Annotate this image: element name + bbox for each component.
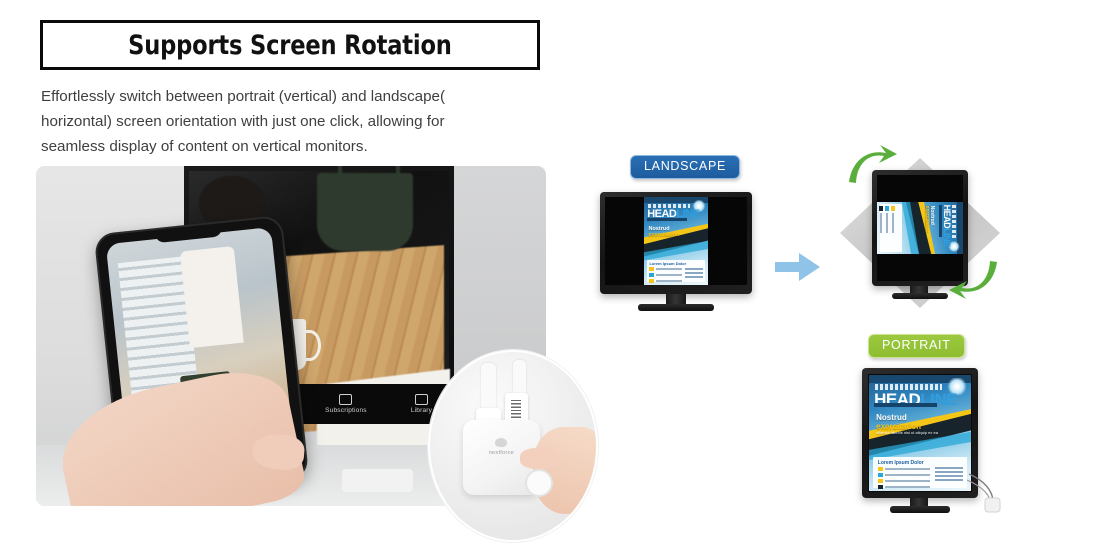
magazine-panel-title: Lorem Ipsum Dolor	[649, 261, 686, 266]
magazine-headline: HEADLINE	[942, 205, 951, 247]
library-icon	[415, 394, 428, 405]
inset-index-finger	[520, 448, 561, 469]
bullet-bar	[885, 480, 931, 483]
description-line-3: seamless display of content on vertical …	[41, 134, 541, 159]
bullet-bar	[656, 268, 682, 271]
description-line-1: Effortlessly switch between portrait (ve…	[41, 84, 541, 109]
magazine-feature-text: Nostrud exercitation ullamco laboris nis…	[876, 414, 938, 435]
photo-thumb	[250, 432, 304, 471]
photo-nav-item-library: Library	[411, 394, 432, 414]
headline-part-white: HEAD	[942, 205, 952, 229]
list-item	[878, 467, 931, 471]
bullet-swatch	[649, 279, 654, 283]
phone-screen-person	[181, 246, 244, 348]
cable-icon	[967, 472, 1003, 514]
magazine-artwork-portrait: HEADLINE Nostrud exercitation ullamco la…	[869, 375, 971, 491]
page-title-box: Supports Screen Rotation	[40, 20, 540, 70]
magazine-subbar	[939, 205, 942, 237]
rotation-arrow-bottom	[948, 258, 1000, 305]
rotated-magazine-clip: HEADLINE Nostrud exercitation	[877, 202, 963, 254]
badge-landscape: LANDSCAPE	[630, 155, 740, 179]
feature-subtext: ullamco laboris nisi ut aliquip ex ea	[876, 431, 938, 435]
list-item	[885, 206, 889, 233]
subscriptions-icon	[339, 394, 352, 405]
magazine-subbar	[647, 218, 687, 221]
list-item	[649, 273, 682, 277]
magazine-side-text-block	[935, 466, 963, 482]
list-item	[879, 206, 883, 233]
bullet-bar	[885, 486, 931, 489]
landscape-monitor: HEADLINE Nostrud exercitation Lorem Ipsu…	[600, 192, 752, 310]
magazine-artwork: HEADLINE Nostrud exercitation Lorem Ipsu…	[644, 197, 708, 285]
subscriptions-label: Subscriptions	[325, 407, 367, 414]
magazine-feature-text: Nostrud exercitation	[923, 206, 934, 234]
bullet-swatch	[878, 467, 883, 471]
portrait-magazine-cover: HEADLINE Nostrud exercitation ullamco la…	[869, 375, 971, 491]
feature-line-2: exercitation	[923, 206, 928, 234]
magazine-feature-text: Nostrud exercitation	[648, 227, 679, 239]
bullet-swatch	[878, 485, 883, 489]
bullet-swatch	[885, 206, 889, 211]
bullet-bar	[656, 280, 682, 283]
bullet-swatch	[878, 473, 883, 477]
list-item	[878, 479, 931, 483]
magazine-bottom-panel: Lorem Ipsum Dolor	[873, 457, 967, 487]
bullet-swatch	[878, 479, 883, 483]
device-closeup-inset: nextforce	[428, 350, 598, 542]
magazine-bullet-list	[877, 206, 895, 233]
landscape-monitor-bezel: HEADLINE Nostrud exercitation Lorem Ipsu…	[600, 192, 752, 294]
list-item	[878, 485, 931, 489]
flow-arrow	[775, 252, 821, 282]
portrait-monitor: HEADLINE Nostrud exercitation ullamco la…	[862, 368, 978, 514]
rotation-arrow-top	[846, 144, 898, 191]
portrait-monitor-cable	[967, 472, 1003, 519]
list-item	[649, 267, 682, 271]
landscape-monitor-base	[638, 304, 714, 311]
rotate-counterclockwise-icon	[948, 258, 1000, 300]
magazine-kicker	[952, 205, 956, 239]
magazine-subbar	[874, 403, 937, 407]
magazine-panel-title: Lorem Ipsum Dolor	[878, 460, 924, 466]
portrait-monitor-screen: HEADLINE Nostrud exercitation ullamco la…	[868, 374, 972, 492]
list-item	[649, 279, 682, 283]
magazine-side-text-block	[685, 266, 703, 278]
portrait-monitor-bezel: HEADLINE Nostrud exercitation ullamco la…	[862, 368, 978, 498]
feature-description: Effortlessly switch between portrait (ve…	[41, 84, 541, 159]
bullet-swatch	[649, 273, 654, 277]
magazine-bottom-panel: Lorem Ipsum Dolor	[647, 260, 706, 283]
landscape-monitor-screen: HEADLINE Nostrud exercitation Lorem Ipsu…	[605, 197, 747, 285]
magazine-kicker	[875, 384, 942, 390]
bullet-swatch	[879, 206, 883, 211]
photo-dock-device	[342, 469, 413, 493]
magazine-bottom-panel	[880, 204, 902, 252]
product-feature-page: Supports Screen Rotation Effortlessly sw…	[0, 0, 1110, 555]
feature-line-2: exercitation	[648, 233, 679, 239]
rotate-clockwise-icon	[846, 144, 898, 186]
library-label: Library	[411, 407, 432, 414]
bullet-bar	[892, 213, 895, 233]
rotation-button[interactable]	[525, 469, 553, 497]
description-line-2: horizontal) screen orientation with just…	[41, 109, 541, 134]
bullet-bar	[885, 474, 931, 477]
landscape-magazine-cover: HEADLINE Nostrud exercitation Lorem Ipsu…	[644, 197, 708, 285]
page-title: Supports Screen Rotation	[128, 30, 452, 61]
magazine-bullet-list	[878, 467, 931, 491]
portrait-monitor-base	[890, 506, 950, 513]
bullet-swatch	[649, 267, 654, 271]
bullet-bar	[656, 274, 682, 277]
magazine-artwork-rotated: HEADLINE Nostrud exercitation	[877, 202, 963, 254]
magazine-bullet-list	[649, 267, 682, 285]
connector-pins	[511, 400, 521, 418]
bullet-swatch	[891, 206, 895, 211]
bullet-bar	[880, 213, 883, 233]
badge-portrait: PORTRAIT	[868, 334, 965, 358]
right-arrow-icon	[775, 252, 821, 282]
photo-handbag	[317, 173, 414, 251]
feature-line-1: Nostrud	[648, 226, 669, 232]
headline-part-blue: LINE	[942, 228, 952, 247]
rotated-magazine-cover: HEADLINE Nostrud exercitation	[877, 202, 963, 254]
bullet-bar	[886, 213, 889, 233]
brand-mark-icon	[495, 438, 507, 447]
rotating-monitor-base	[892, 293, 948, 299]
list-item	[891, 206, 895, 233]
list-item	[878, 473, 931, 477]
bullet-bar	[885, 468, 931, 471]
photo-nav-item-subscriptions: Subscriptions	[325, 394, 367, 414]
